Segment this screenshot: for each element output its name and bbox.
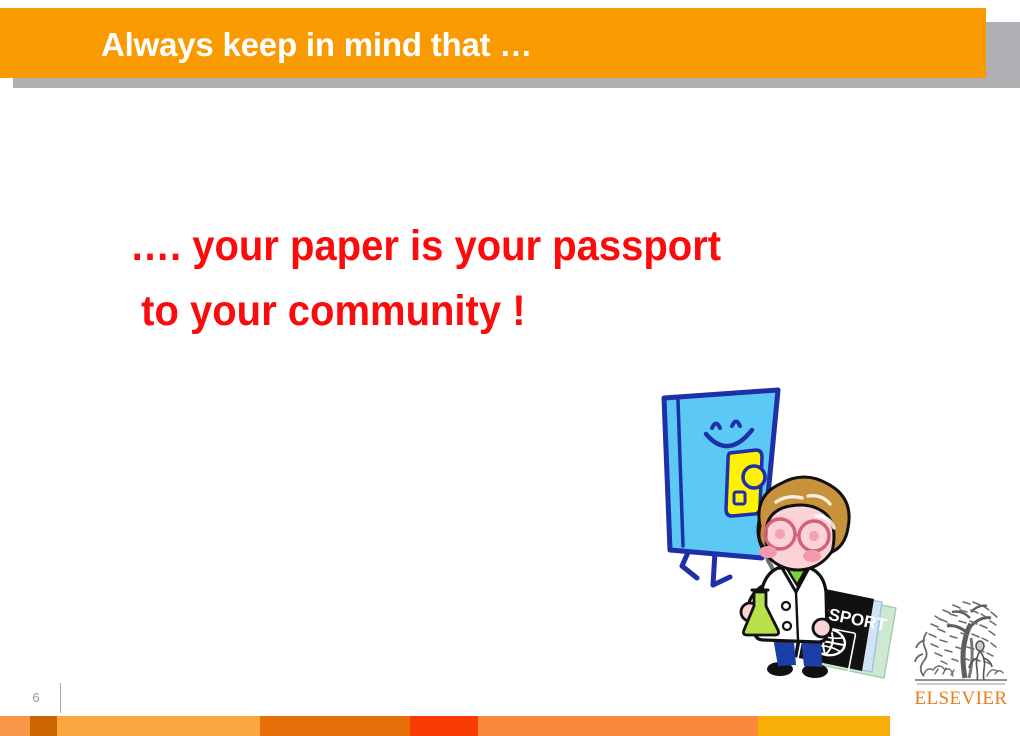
segment-dark-orange: [260, 716, 410, 736]
segment-amber: [758, 716, 890, 736]
elsevier-tree-emblem-icon: [907, 588, 1015, 692]
segment-red-orange: [410, 716, 478, 736]
body-line-2: to your community !: [130, 279, 837, 344]
segment-light-orange: [57, 716, 260, 736]
slide-canvas: Always keep in mind that … …. your paper…: [0, 0, 1020, 736]
page-number: 6: [24, 690, 48, 705]
segment-mid-orange: [478, 716, 758, 736]
walking-book-character-icon: [664, 390, 778, 585]
body-line-1: …. your paper is your passport: [130, 214, 837, 279]
footer-divider: [60, 683, 61, 713]
paper-passport-illustration: PASSPORT: [650, 380, 912, 680]
elsevier-wordmark: ELSEVIER: [907, 688, 1015, 710]
segment-brown: [30, 716, 57, 736]
segment-peach: [0, 716, 30, 736]
elsevier-logo: ELSEVIER: [907, 588, 1015, 716]
footer-color-bar: [0, 716, 890, 736]
slide-body-text: …. your paper is your passport to your c…: [130, 214, 837, 344]
page-title: Always keep in mind that …: [101, 26, 532, 64]
